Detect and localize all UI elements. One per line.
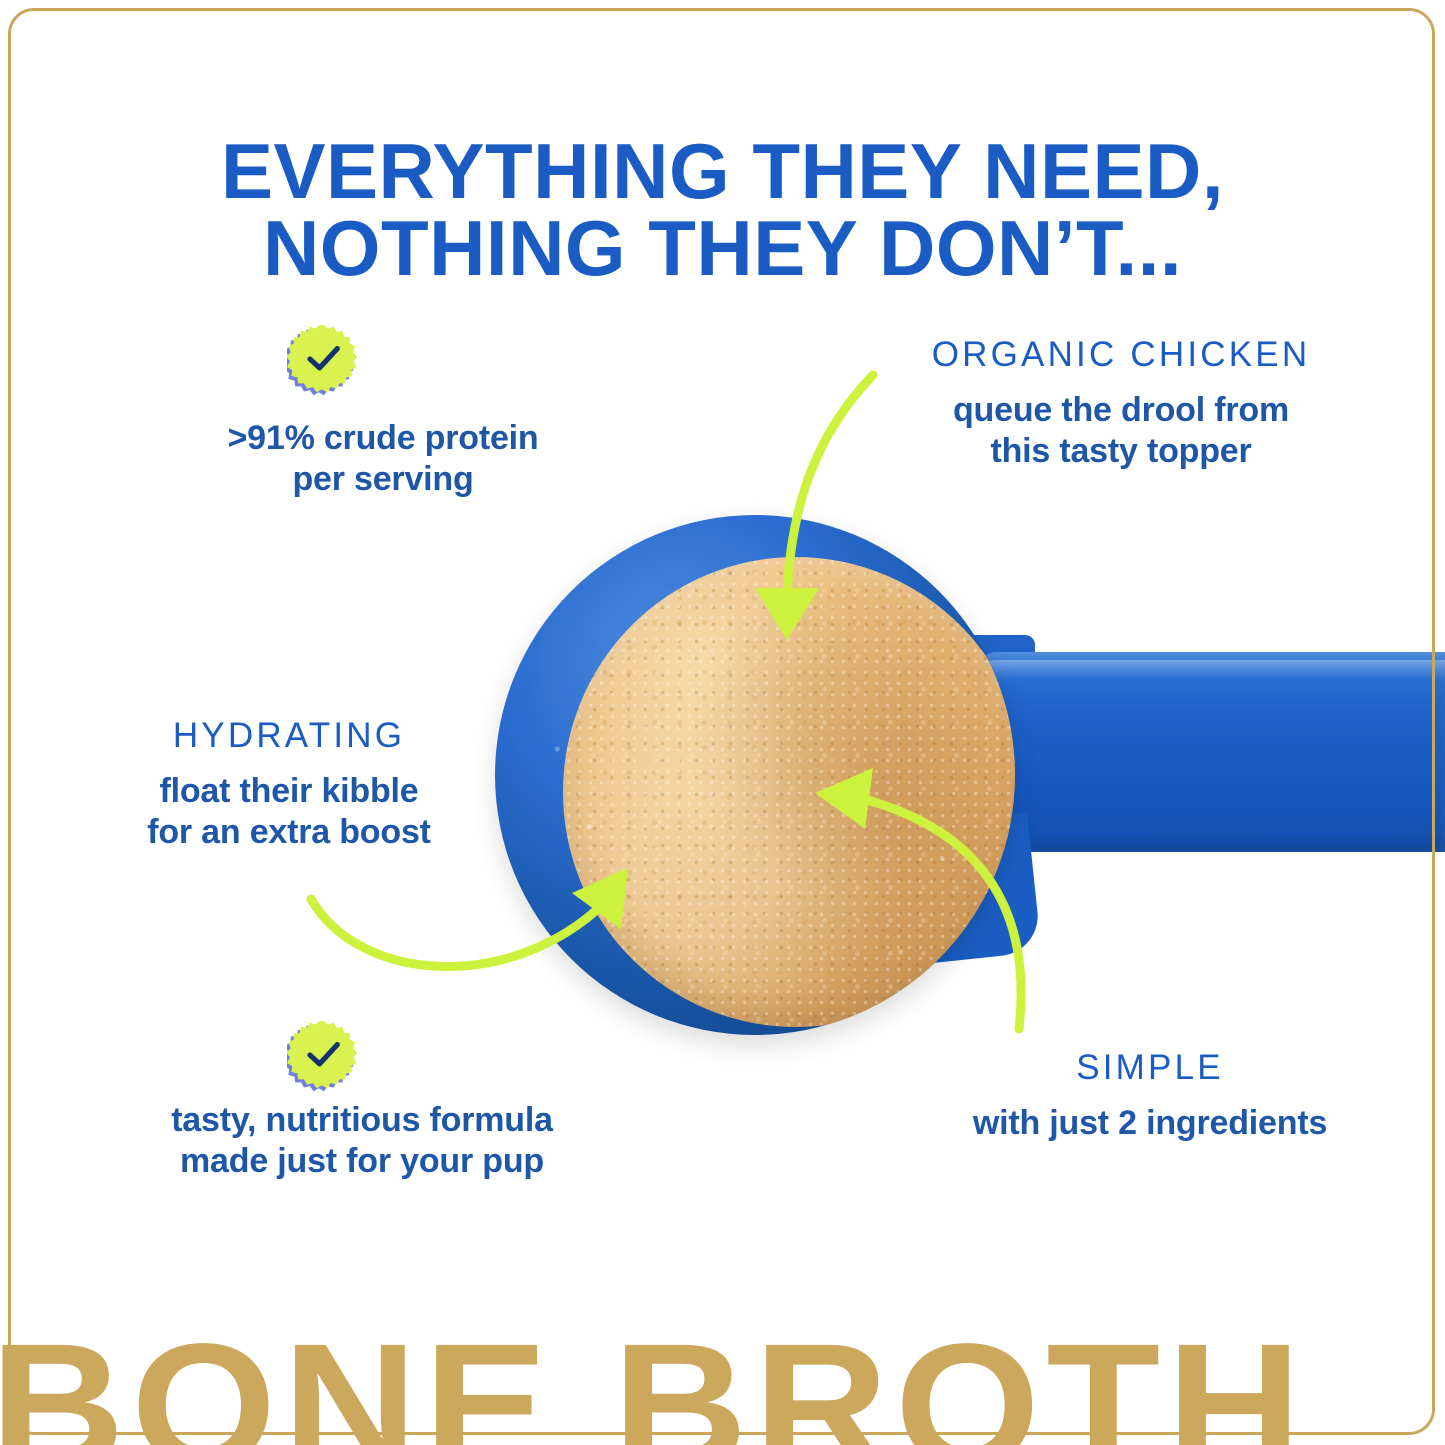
headline-line-1: EVERYTHING THEY NEED, xyxy=(221,127,1224,215)
callout-simple-body: with just 2 ingredients xyxy=(880,1103,1420,1144)
product-scoop-image: nativepe xyxy=(455,495,1445,1055)
bone-broth-powder xyxy=(563,557,1015,1027)
callout-organic-chicken: ORGANIC CHICKEN queue the drool from thi… xyxy=(836,337,1406,473)
headline-line-2: NOTHING THEY DON’T... xyxy=(0,210,1445,287)
scoop-bowl xyxy=(495,515,1015,1035)
scoop-handle: nativepe xyxy=(980,652,1445,852)
check-badge-icon xyxy=(287,322,361,396)
callout-organic-chicken-body: queue the drool from this tasty topper xyxy=(836,390,1406,473)
starburst-icon xyxy=(287,322,361,396)
callout-hydrating-heading: HYDRATING xyxy=(24,718,554,755)
callout-protein-body: >91% crude protein per serving xyxy=(88,418,678,501)
callout-organic-chicken-heading: ORGANIC CHICKEN xyxy=(836,337,1406,374)
callout-hydrating-body: float their kibble for an extra boost xyxy=(24,771,554,854)
callout-simple: SIMPLE with just 2 ingredients xyxy=(880,1050,1420,1144)
check-badge-icon xyxy=(287,1018,361,1092)
infographic-canvas: EVERYTHING THEY NEED, NOTHING THEY DON’T… xyxy=(0,0,1445,1445)
starburst-icon xyxy=(287,1018,361,1092)
callout-simple-heading: SIMPLE xyxy=(880,1050,1420,1087)
callout-hydrating: HYDRATING float their kibble for an extr… xyxy=(24,718,554,854)
callout-protein: >91% crude protein per serving xyxy=(88,418,678,501)
powder-texture-fine xyxy=(563,557,1015,1027)
page-title: EVERYTHING THEY NEED, NOTHING THEY DON’T… xyxy=(0,56,1445,365)
callout-tasty: tasty, nutritious formula made just for … xyxy=(42,1100,682,1183)
product-name-banner: BONE BROTH xyxy=(0,1318,1445,1445)
callout-tasty-body: tasty, nutritious formula made just for … xyxy=(42,1100,682,1183)
